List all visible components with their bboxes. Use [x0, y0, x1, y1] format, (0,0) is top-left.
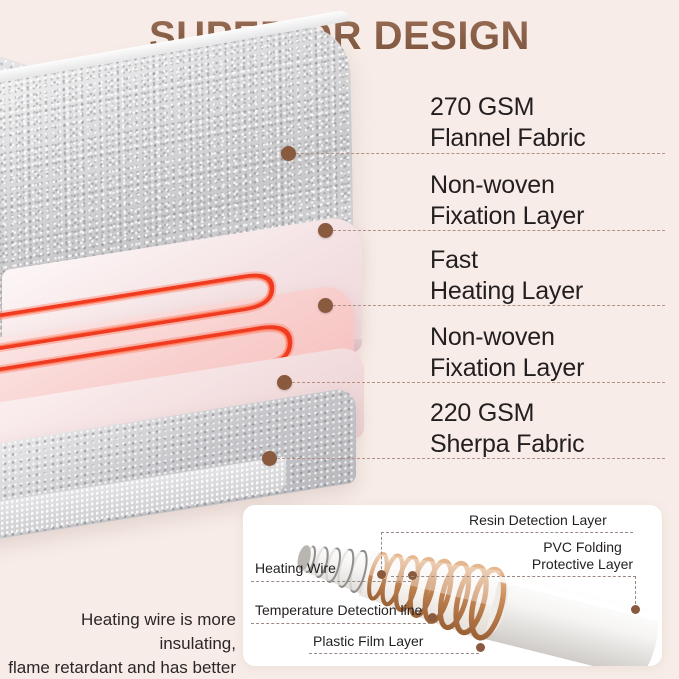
- inset-label-plastic-film-layer: Plastic Film Layer: [313, 633, 423, 650]
- callout-dot-nonwoven-2: [277, 375, 292, 390]
- exploded-layer-illustration: [0, 44, 420, 514]
- inset-dot-temperature-detection-line: [428, 613, 437, 622]
- inset-dash-plastic-film-layer: [309, 653, 479, 654]
- inset-dashv-resin-detection-layer: [381, 532, 382, 574]
- inset-dot-plastic-film-layer: [476, 643, 485, 652]
- callout-label-sherpa: 220 GSM Sherpa Fabric: [430, 398, 675, 460]
- inset-dot-resin-detection-layer: [377, 570, 386, 579]
- callout-dot-sherpa: [262, 451, 277, 466]
- cable-illustration: [243, 505, 662, 666]
- inset-dash-heating-wire: [251, 581, 411, 582]
- callout-label-nonwoven-2: Non-woven Fixation Layer: [430, 322, 675, 384]
- heating-wire-description: Heating wire is more insulating, flame r…: [8, 608, 236, 679]
- infographic-root: SUPERIOR DESIGN: [0, 0, 679, 679]
- cable-detail-panel: Heating Wire Resin Detection Layer PVC F…: [243, 505, 662, 666]
- inset-dash-pvc-folding-protective-layer: [391, 576, 636, 577]
- callout-label-flannel: 270 GSM Flannel Fabric: [430, 92, 675, 154]
- inset-label-temperature-detection-line: Temperature Detection line: [255, 602, 422, 619]
- callout-label-nonwoven-1: Non-woven Fixation Layer: [430, 170, 675, 232]
- callout-dot-flannel: [281, 146, 296, 161]
- inset-label-pvc-folding-protective-layer: PVC Folding Protective Layer: [505, 539, 660, 573]
- inset-dash-temperature-detection-line: [251, 623, 431, 624]
- inset-label-resin-detection-layer: Resin Detection Layer: [469, 512, 607, 529]
- callout-dot-nonwoven-1: [318, 223, 333, 238]
- inset-dash-resin-detection-layer: [381, 532, 633, 533]
- inset-label-heating-wire: Heating Wire: [255, 560, 336, 577]
- callout-label-heating: Fast Heating Layer: [430, 245, 675, 307]
- inset-dot-pvc-folding-protective-layer: [631, 605, 640, 614]
- callout-dot-heating: [318, 298, 333, 313]
